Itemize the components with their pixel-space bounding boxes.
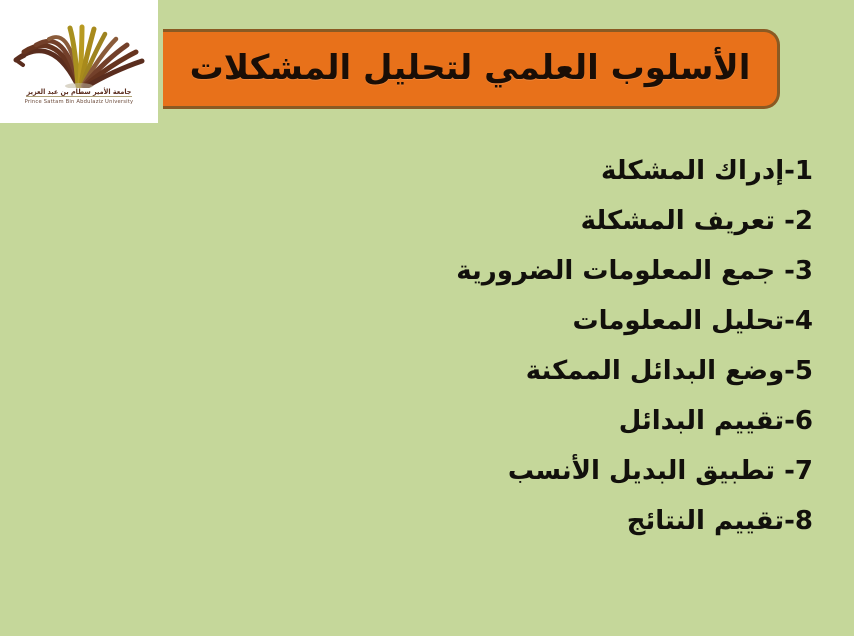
list-item: 4-تحليل المعلومات: [23, 296, 813, 346]
slide-title-banner: الأسلوب العلمي لتحليل المشكلات: [163, 29, 780, 109]
presentation-slide: الأسلوب العلمي لتحليل المشكلات: [0, 0, 859, 636]
open-book-fan-logo-icon: [12, 20, 146, 88]
logo-divider: [26, 96, 132, 97]
list-item: 3- جمع المعلومات الضرورية: [23, 246, 813, 296]
logo-caption-english: Prince Sattam Bin Abdulaziz University: [4, 99, 154, 105]
right-edge-strip: [854, 0, 859, 636]
list-item: 8-تقييم النتائج: [23, 496, 813, 546]
list-item: 2- تعريف المشكلة: [23, 196, 813, 246]
problem-analysis-steps-list: 1-إدراك المشكلة 2- تعريف المشكلة 3- جمع …: [23, 146, 813, 546]
university-logo-card: جامعة الأمير سطام بن عبد العزيز Prince S…: [0, 0, 158, 123]
slide-title: الأسلوب العلمي لتحليل المشكلات: [190, 50, 751, 87]
list-item: 6-تقييم البدائل: [23, 396, 813, 446]
list-item: 5-وضع البدائل الممكنة: [23, 346, 813, 396]
logo-caption-arabic: جامعة الأمير سطام بن عبد العزيز: [6, 88, 151, 96]
list-item: 7- تطبيق البديل الأنسب: [23, 446, 813, 496]
list-item: 1-إدراك المشكلة: [23, 146, 813, 196]
